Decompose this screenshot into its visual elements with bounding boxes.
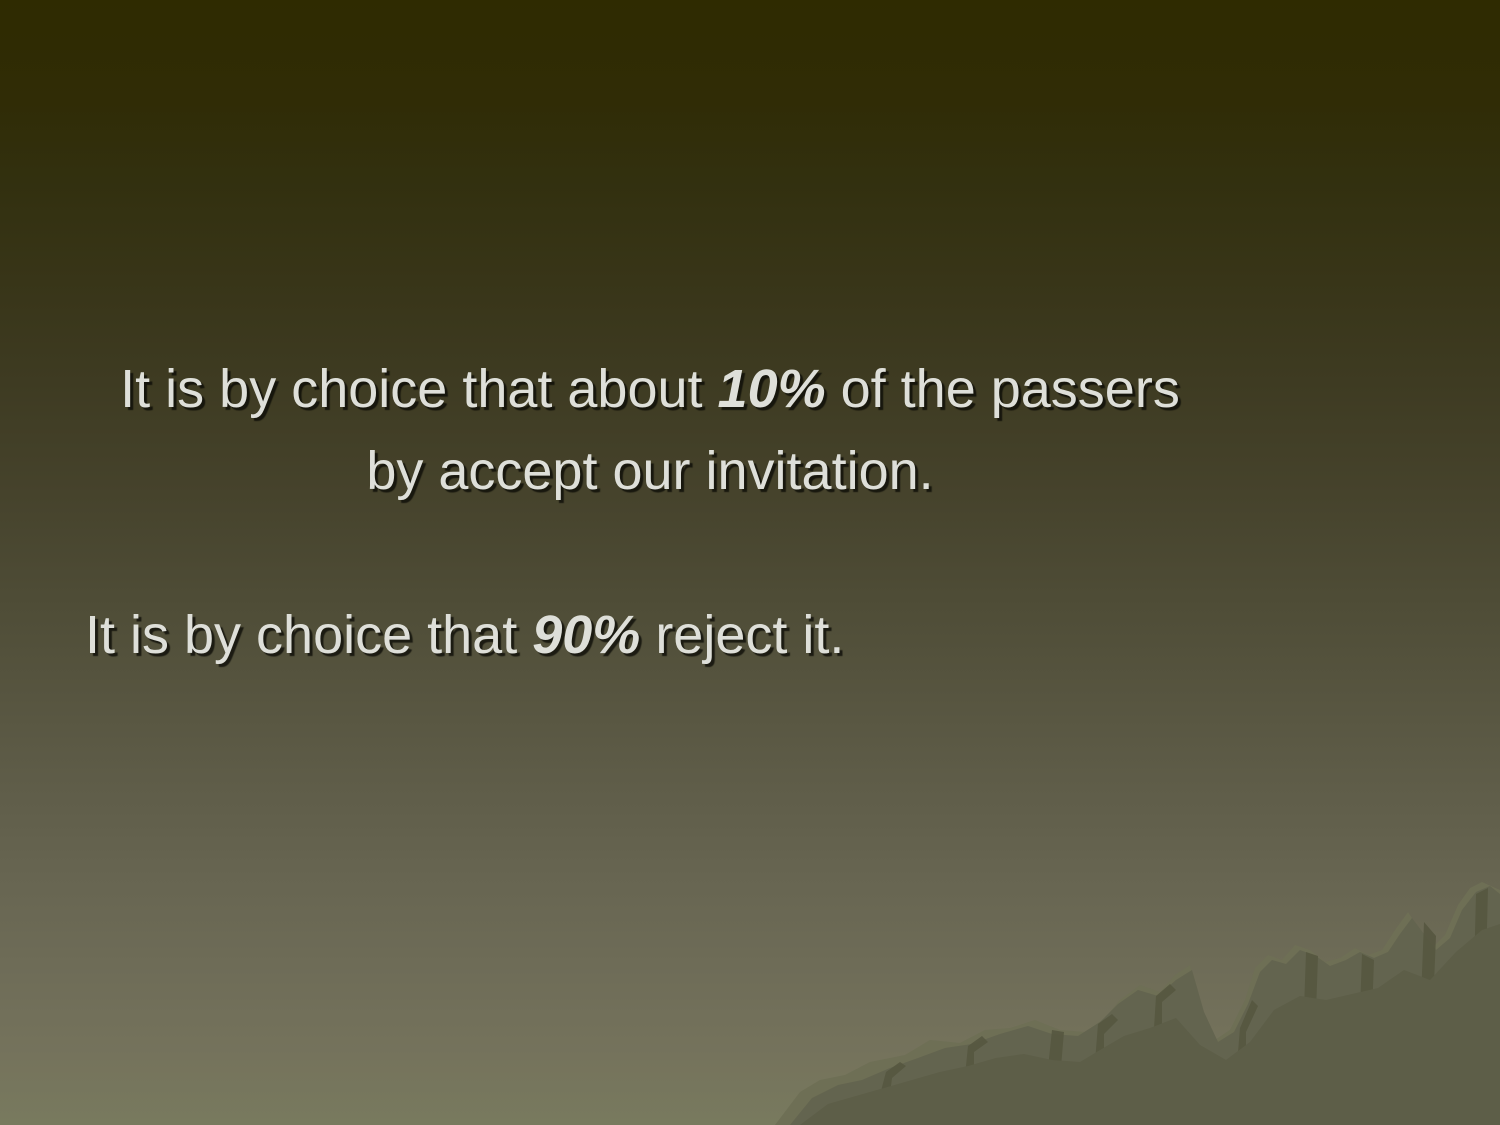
- ridge-mid-layer: [790, 886, 1500, 1125]
- ridge-foreground-layer: [800, 924, 1500, 1125]
- presentation-slide: It is by choice that about 10% of the pa…: [0, 0, 1500, 1125]
- paragraph-2-part-1: It is by choice that: [85, 605, 532, 665]
- ridge-back-layer: [775, 882, 1500, 1125]
- blank-paragraph: [85, 512, 1215, 594]
- paragraph-2-part-2: reject it.: [640, 605, 844, 665]
- paragraph-2: It is by choice that 90% reject it.: [85, 594, 1215, 676]
- slide-body-text: It is by choice that about 10% of the pa…: [85, 348, 1215, 676]
- paragraph-1-emphasis-percent: 10%: [718, 359, 826, 419]
- paragraph-2-emphasis-percent: 90%: [532, 605, 640, 665]
- ridge-strata-shadows: [872, 888, 1488, 1125]
- paragraph-1: It is by choice that about 10% of the pa…: [85, 348, 1215, 512]
- paragraph-1-part-1: It is by choice that about: [120, 359, 717, 419]
